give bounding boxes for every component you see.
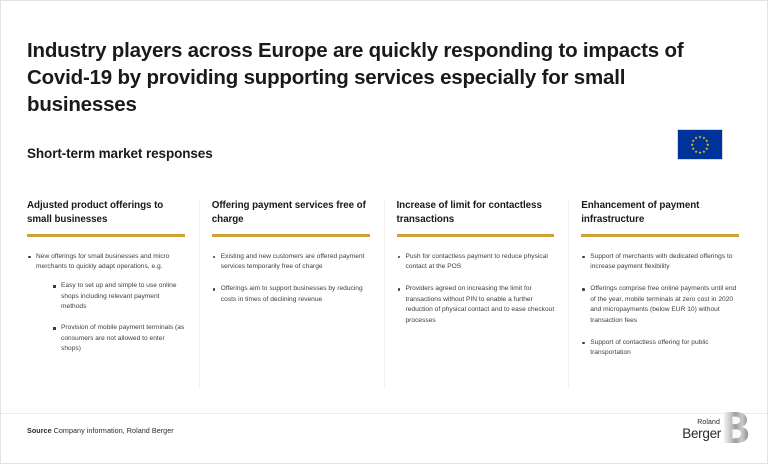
roland-berger-logo: Roland Berger [659,409,751,449]
column-body: New offerings for small businesses and m… [27,252,185,355]
list-item: Offerings comprise free online payments … [581,284,739,327]
logo-wordmark: Roland Berger [682,419,721,441]
list-item: New offerings for small businesses and m… [27,252,185,355]
bullet-list: Push for contactless payment to reduce p… [397,252,555,327]
column-accent-rule [581,234,739,237]
column-increase-of-limit-contactless: Increase of limit for contactless transa… [384,199,569,389]
bullet-text: New offerings for small businesses and m… [36,253,169,271]
bullet-text: Push for contactless payment to reduce p… [406,253,548,271]
bullet-text: Offerings aim to support businesses by r… [221,285,363,303]
sub-bullet-text: Easy to set up and simple to use online … [61,282,177,310]
column-enhancement-of-payment-infrastructure: Enhancement of payment infrastructure Su… [568,199,753,389]
column-body: Push for contactless payment to reduce p… [397,252,555,327]
column-title: Increase of limit for contactless transa… [397,199,555,227]
list-item: Providers agreed on increasing the limit… [397,284,555,327]
european-union-flag-icon [677,129,723,160]
column-accent-rule [27,234,185,237]
list-item: Push for contactless payment to reduce p… [397,252,555,273]
bullet-text: Providers agreed on increasing the limit… [406,285,555,324]
column-accent-rule [212,234,370,237]
sub-bullet-list: Easy to set up and simple to use online … [36,281,185,355]
bullet-text: Offerings comprise free online payments … [590,285,736,324]
list-item: Easy to set up and simple to use online … [52,281,185,313]
page-subtitle: Short-term market responses [27,146,213,161]
logo-line-berger: Berger [682,427,721,441]
sub-bullet-text: Provision of mobile payment terminals (a… [61,324,184,352]
list-item: Support of contactless offering for publ… [581,338,739,359]
column-title: Adjusted product offerings to small busi… [27,199,185,227]
logo-line-roland: Roland [682,419,720,426]
bullet-list: New offerings for small businesses and m… [27,252,185,355]
list-item: Provision of mobile payment terminals (a… [52,323,185,355]
source-note: Source Company information, Roland Berge… [27,426,174,435]
eu-stars-icon [678,130,722,160]
bullet-text: Support of contactless offering for publ… [590,339,708,357]
list-item: Support of merchants with dedicated offe… [581,252,739,273]
bullet-text: Support of merchants with dedicated offe… [590,253,732,271]
bullet-list: Existing and new customers are offered p… [212,252,370,306]
source-label: Source [27,426,52,435]
list-item: Existing and new customers are offered p… [212,252,370,273]
source-text: Company information, Roland Berger [54,426,174,435]
footer-divider [1,413,767,414]
column-adjusted-product-offerings: Adjusted product offerings to small busi… [23,199,199,389]
column-title: Enhancement of payment infrastructure [581,199,739,227]
slide-canvas: Industry players across Europe are quick… [0,0,768,464]
columns-container: Adjusted product offerings to small busi… [23,199,753,389]
list-item: Offerings aim to support businesses by r… [212,284,370,305]
column-body: Support of merchants with dedicated offe… [581,252,739,359]
bullet-list: Support of merchants with dedicated offe… [581,252,739,359]
column-accent-rule [397,234,555,237]
logo-b-mark-icon [723,411,749,444]
page-title: Industry players across Europe are quick… [27,37,687,119]
column-offering-payment-services-free: Offering payment services free of charge… [199,199,384,389]
column-title: Offering payment services free of charge [212,199,370,227]
column-body: Existing and new customers are offered p… [212,252,370,306]
bullet-text: Existing and new customers are offered p… [221,253,365,271]
